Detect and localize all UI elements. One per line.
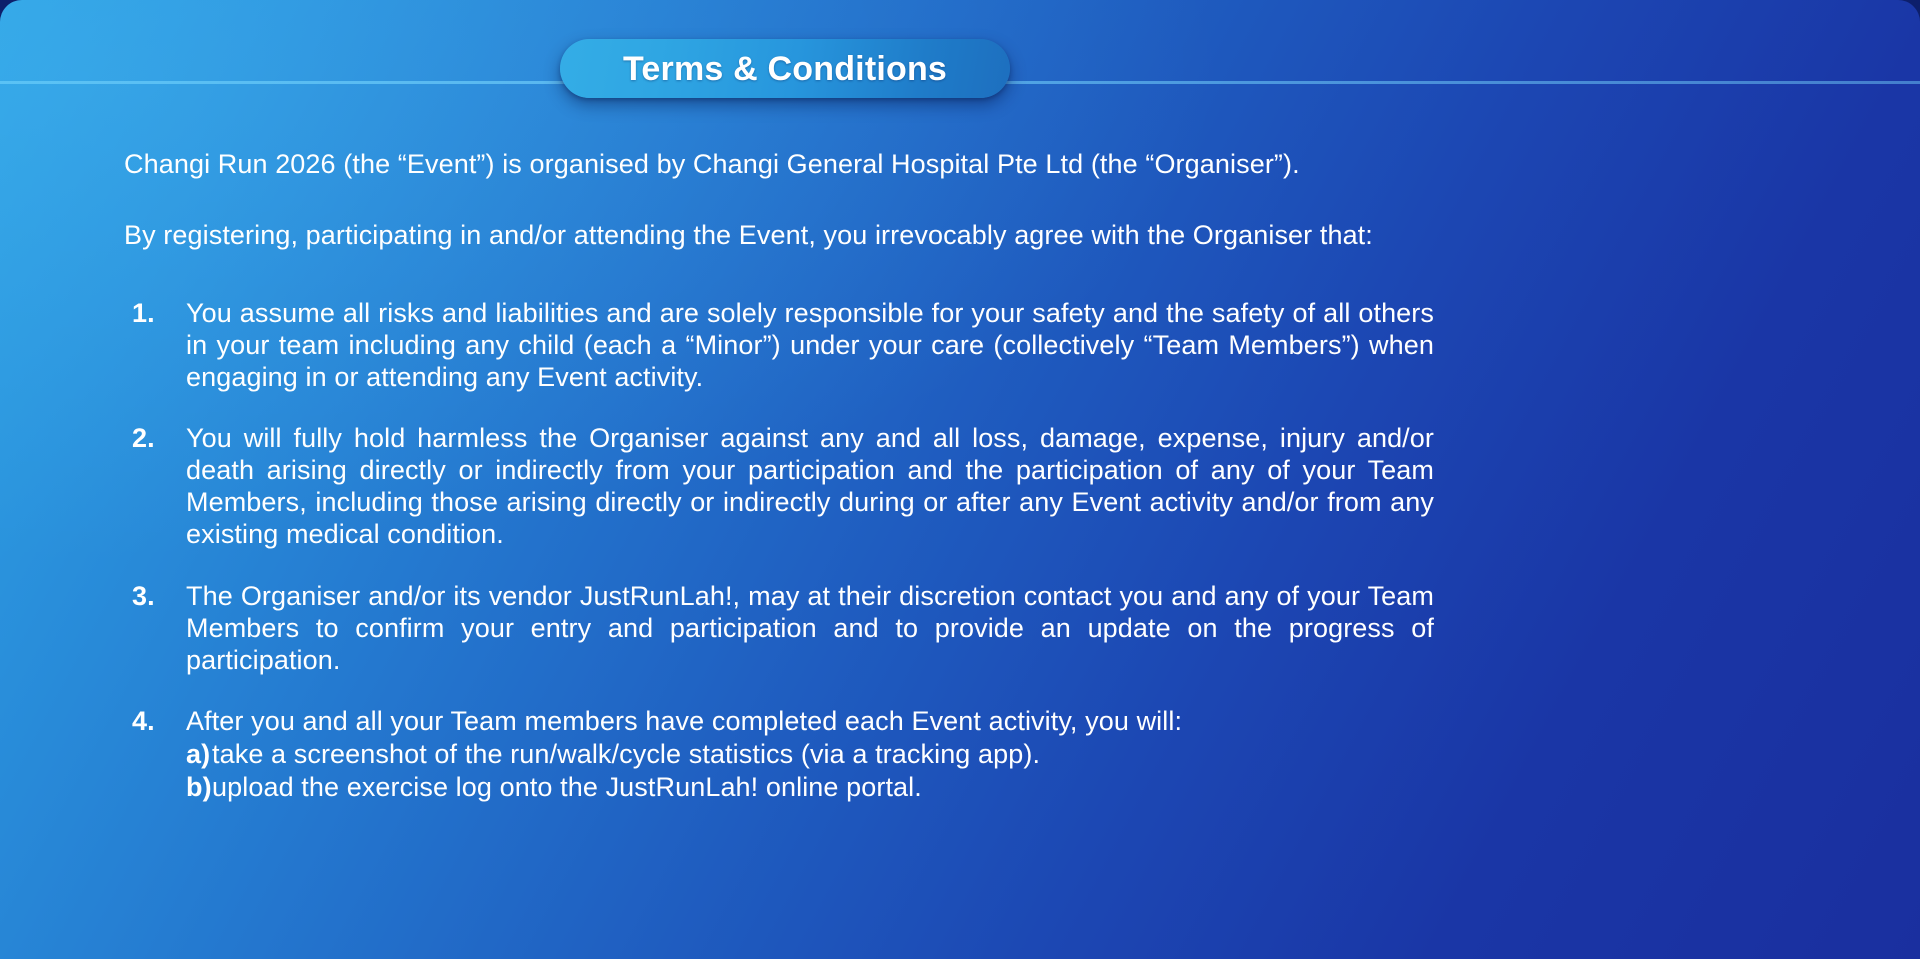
terms-list-item: 4. After you and all your Team members h… bbox=[124, 706, 1434, 804]
intro-paragraph-2: By registering, participating in and/or … bbox=[124, 219, 1434, 251]
terms-list-item: 3. The Organiser and/or its vendor JustR… bbox=[124, 581, 1434, 677]
list-item-text: After you and all your Team members have… bbox=[186, 706, 1434, 738]
terms-list-item: 1. You assume all risks and liabilities … bbox=[124, 298, 1434, 394]
list-item-number: 3. bbox=[132, 581, 155, 613]
intro-paragraph-1: Changi Run 2026 (the “Event”) is organis… bbox=[124, 148, 1434, 180]
list-item-number: 2. bbox=[132, 423, 155, 455]
terms-list: 1. You assume all risks and liabilities … bbox=[124, 298, 1434, 804]
terms-content: Changi Run 2026 (the “Event”) is organis… bbox=[124, 148, 1434, 804]
terms-sublist: a) take a screenshot of the run/walk/cyc… bbox=[186, 739, 1434, 804]
terms-and-conditions-panel: Terms & Conditions Changi Run 2026 (the … bbox=[0, 0, 1920, 959]
sublist-item-label: a) bbox=[186, 739, 210, 771]
list-item-text: You will fully hold harmless the Organis… bbox=[186, 423, 1434, 550]
sublist-item-text: upload the exercise log onto the JustRun… bbox=[212, 772, 922, 802]
list-item-text: You assume all risks and liabilities and… bbox=[186, 298, 1434, 394]
sublist-item-text: take a screenshot of the run/walk/cycle … bbox=[212, 739, 1040, 769]
list-item-number: 4. bbox=[132, 706, 155, 738]
page-title: Terms & Conditions bbox=[623, 52, 947, 86]
terms-sublist-item: b) upload the exercise log onto the Just… bbox=[186, 772, 1434, 804]
terms-list-item: 2. You will fully hold harmless the Orga… bbox=[124, 423, 1434, 550]
page-title-badge: Terms & Conditions bbox=[560, 39, 1010, 98]
terms-sublist-item: a) take a screenshot of the run/walk/cyc… bbox=[186, 739, 1434, 771]
list-item-number: 1. bbox=[132, 298, 155, 330]
list-item-text: The Organiser and/or its vendor JustRunL… bbox=[186, 581, 1434, 677]
sublist-item-label: b) bbox=[186, 772, 212, 804]
